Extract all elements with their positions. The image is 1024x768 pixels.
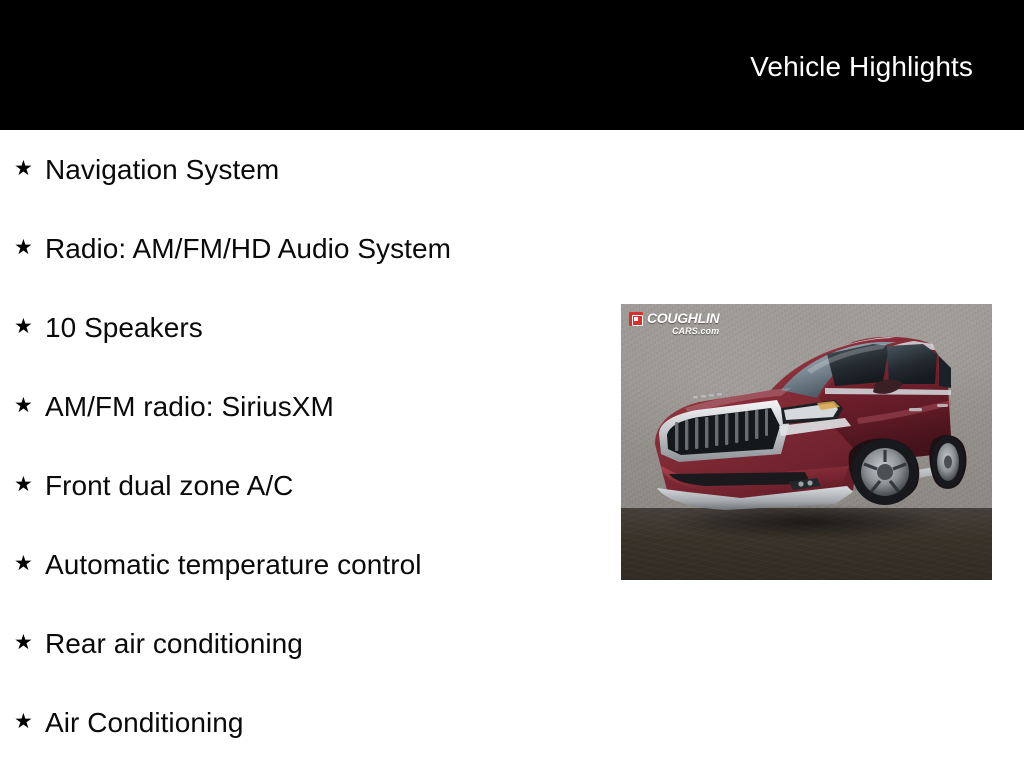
list-item: ★ Air Conditioning	[0, 683, 600, 762]
star-icon: ★	[14, 711, 45, 732]
vehicle-photo: COUGHLIN CARS.com	[621, 304, 992, 580]
watermark-brand: COUGHLIN	[647, 311, 719, 325]
vehicle-highlights-list: ★ Navigation System ★ Radio: AM/FM/HD Au…	[0, 130, 600, 762]
list-item-label: AM/FM radio: SiriusXM	[45, 391, 600, 423]
star-icon: ★	[14, 316, 45, 337]
list-item: ★ 10 Speakers	[0, 288, 600, 367]
list-item-label: Automatic temperature control	[45, 549, 600, 581]
list-item: ★ Radio: AM/FM/HD Audio System	[0, 209, 600, 288]
coughlin-logo-icon	[629, 312, 643, 326]
watermark-text: COUGHLIN CARS.com	[647, 311, 719, 336]
list-item-label: Rear air conditioning	[45, 628, 600, 660]
list-item-label: Front dual zone A/C	[45, 470, 600, 502]
page-header: Vehicle Highlights	[0, 0, 1024, 130]
watermark-sub: CARS.com	[647, 327, 719, 336]
star-icon: ★	[14, 474, 45, 495]
star-icon: ★	[14, 158, 45, 179]
list-item: ★ Front dual zone A/C	[0, 446, 600, 525]
list-item-label: Air Conditioning	[45, 707, 600, 739]
vehicle-highlights-page: Vehicle Highlights ★ Navigation System ★…	[0, 0, 1024, 768]
star-icon: ★	[14, 553, 45, 574]
dealer-watermark: COUGHLIN CARS.com	[629, 311, 719, 336]
list-item: ★ Automatic temperature control	[0, 525, 600, 604]
list-item-label: Navigation System	[45, 154, 600, 186]
list-item-label: Radio: AM/FM/HD Audio System	[45, 233, 600, 265]
list-item: ★ Navigation System	[0, 130, 600, 209]
star-icon: ★	[14, 237, 45, 258]
list-item-label: 10 Speakers	[45, 312, 600, 344]
list-item: ★ Rear air conditioning	[0, 604, 600, 683]
star-icon: ★	[14, 395, 45, 416]
page-title: Vehicle Highlights	[750, 50, 973, 84]
star-icon: ★	[14, 632, 45, 653]
list-item: ★ AM/FM radio: SiriusXM	[0, 367, 600, 446]
vehicle-illustration	[621, 304, 992, 580]
